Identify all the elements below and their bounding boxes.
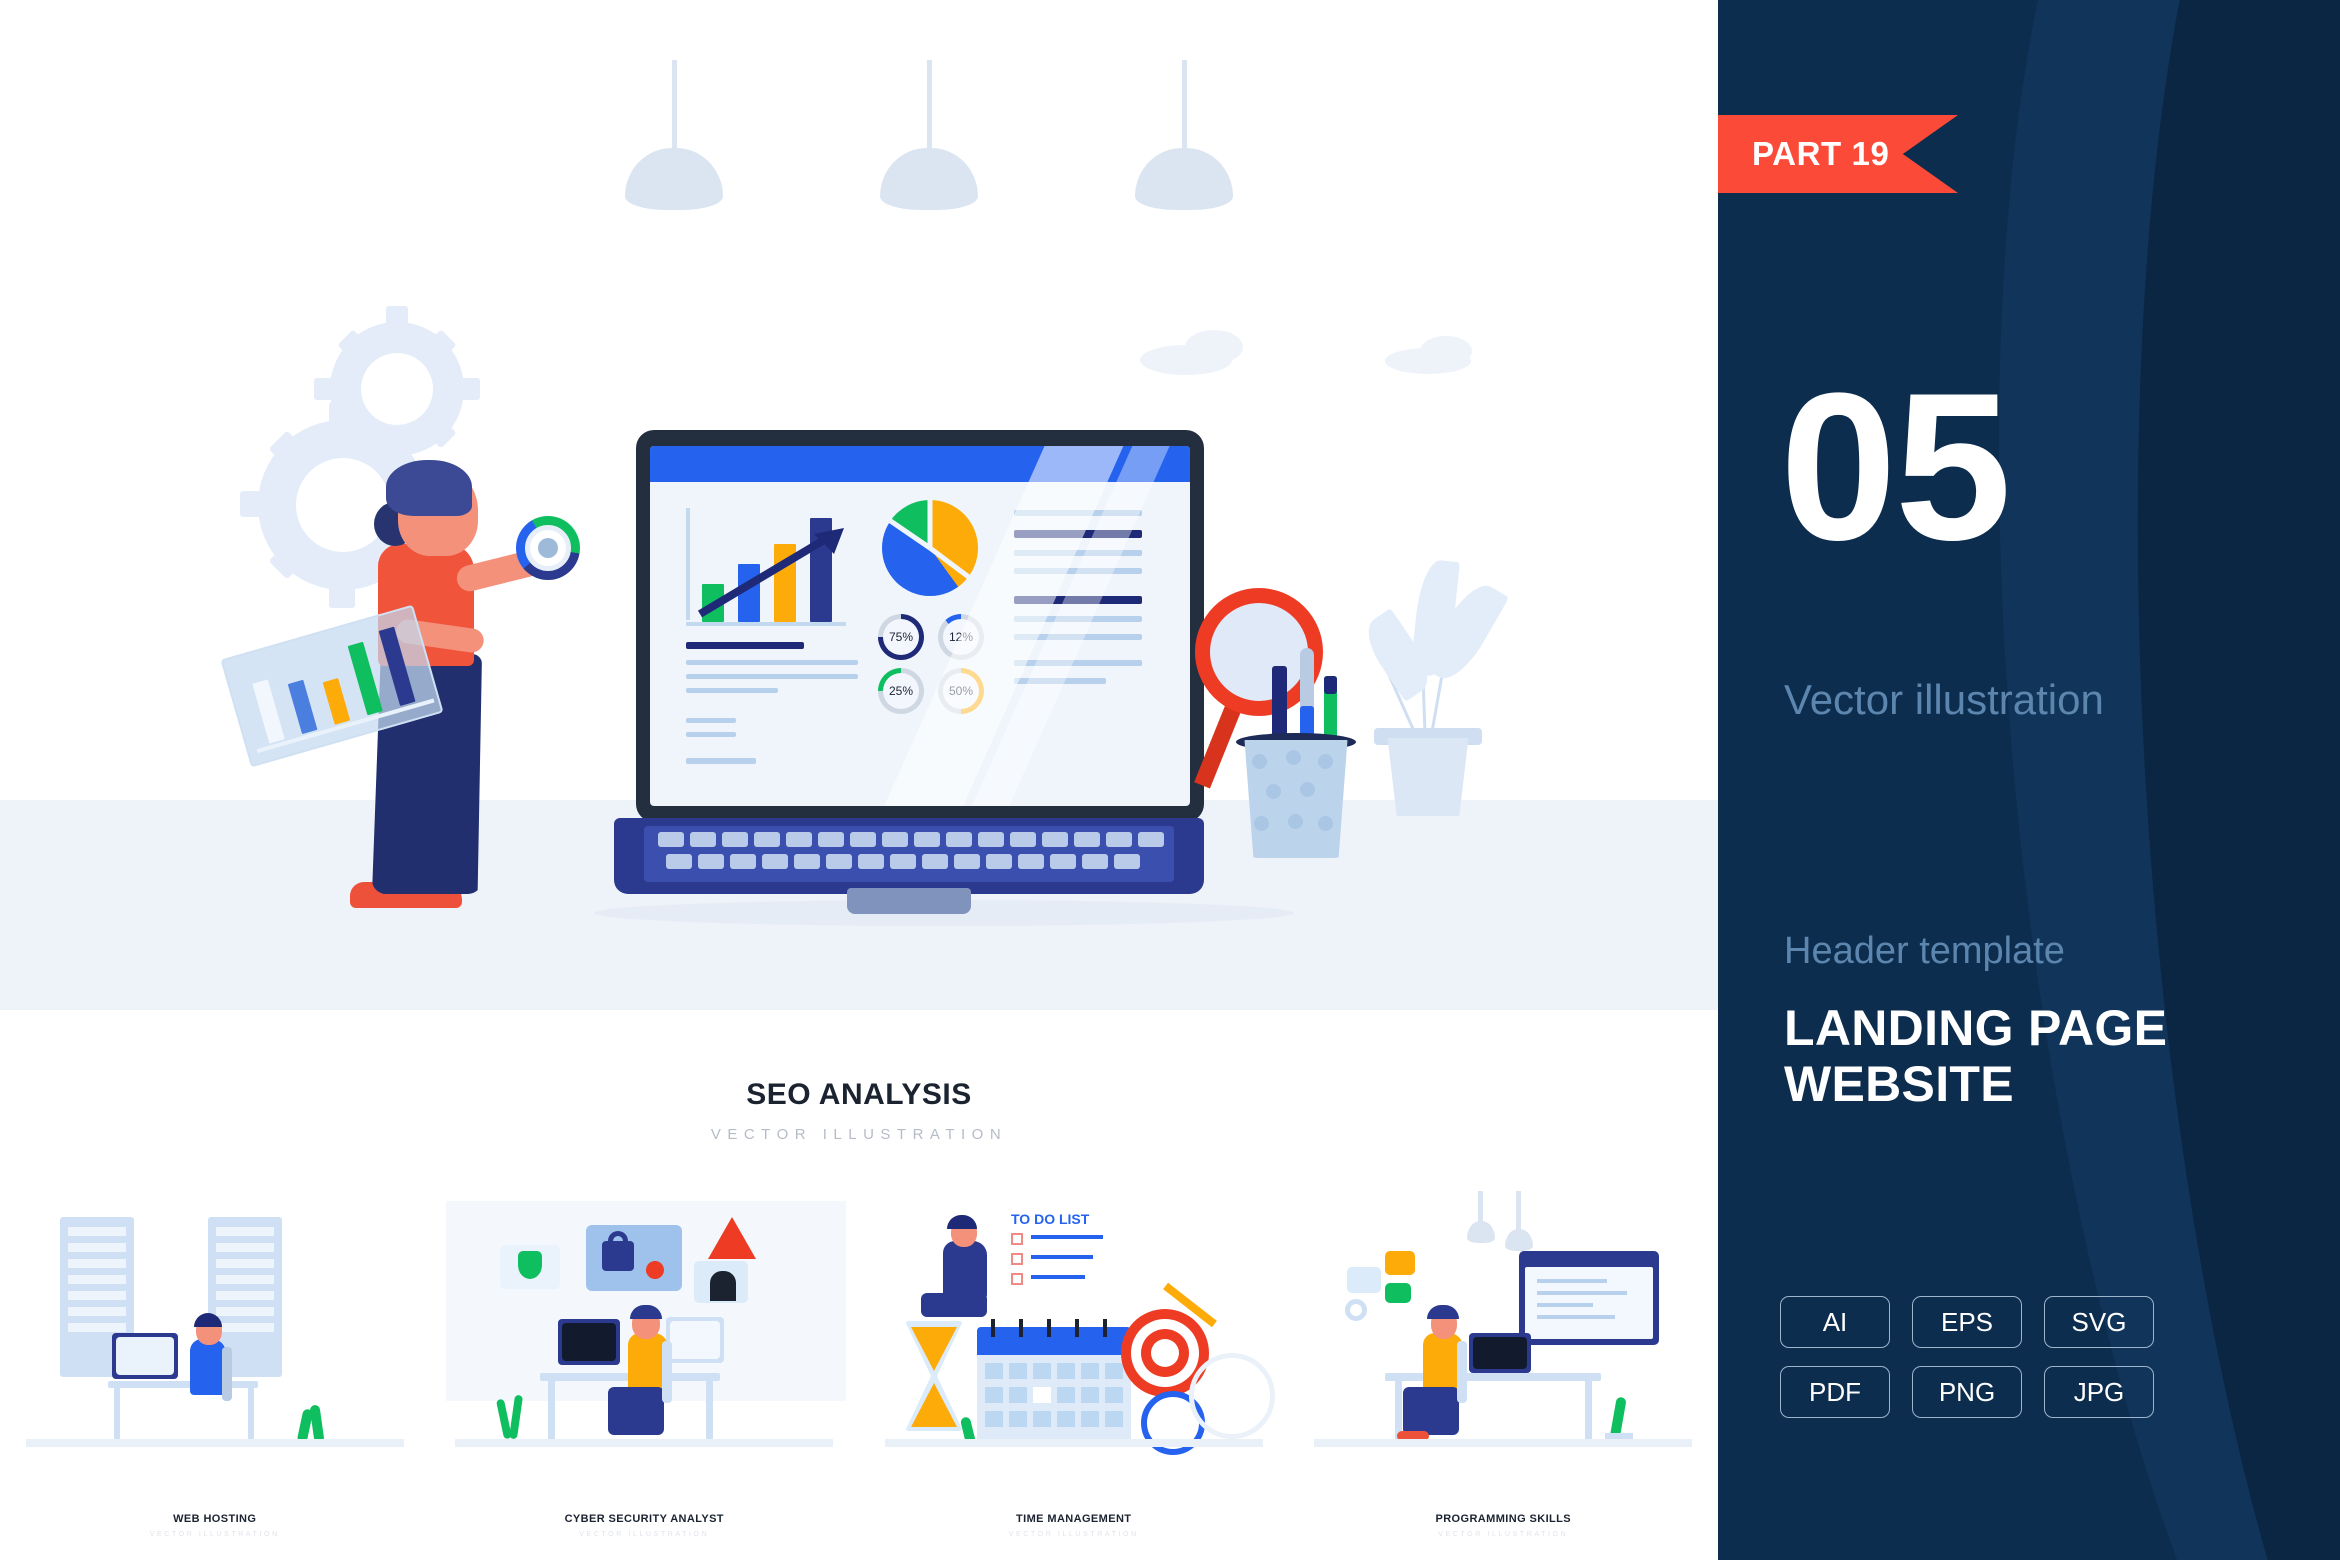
server-slot (68, 1323, 126, 1332)
server-slot (68, 1243, 126, 1252)
thumb-caption: TIME MANAGEMENT VECTOR ILLUSTRATION (859, 1513, 1289, 1538)
woman-illustration (280, 440, 600, 980)
laptop-lid: 75% 12% 25% 50% (636, 430, 1204, 822)
screen-text-line (686, 718, 736, 723)
todo-check-icon (1011, 1253, 1023, 1265)
person-cap (1427, 1305, 1459, 1319)
person-legs (921, 1293, 987, 1317)
thumbnail-time-management[interactable]: TO DO LIST (859, 1175, 1289, 1560)
calendar-cell (1105, 1363, 1123, 1379)
format-badge-pdf[interactable]: PDF (1780, 1366, 1890, 1418)
thumb-floor (885, 1439, 1263, 1447)
calendar-ring (1075, 1319, 1079, 1337)
calendar-cell (1009, 1411, 1027, 1427)
laptop-trackpad (847, 888, 971, 914)
person-hair (947, 1215, 977, 1229)
server-slot (68, 1227, 126, 1236)
screen-text-line (1014, 530, 1142, 538)
cloud-shape (1185, 330, 1243, 364)
calendar-ring (1103, 1319, 1107, 1337)
hourglass-sand (911, 1327, 957, 1371)
chat-bubble-icon (1385, 1283, 1411, 1303)
screen-text-line (1014, 678, 1106, 684)
screen-text-line (1014, 596, 1142, 604)
donut-value: 25% (883, 673, 919, 709)
person-legs (608, 1387, 664, 1435)
todo-line (1031, 1275, 1085, 1279)
person-body (943, 1241, 987, 1299)
panel-bar-5 (379, 627, 416, 706)
calendar-cell (1105, 1387, 1123, 1403)
thumb-title: CYBER SECURITY ANALYST (430, 1513, 860, 1525)
donut-value: 75% (883, 619, 919, 655)
lock-shackle-icon (608, 1231, 628, 1247)
person-cap (630, 1305, 662, 1319)
thumb-art: TO DO LIST (859, 1181, 1289, 1481)
calendar-cell (1057, 1387, 1075, 1403)
hero-caption: SEO ANALYSIS VECTOR ILLUSTRATION (0, 1078, 1718, 1143)
desk-leg (548, 1379, 555, 1441)
desk-leg (114, 1387, 120, 1443)
thumbnail-cyber-security[interactable]: CYBER SECURITY ANALYST VECTOR ILLUSTRATI… (430, 1175, 860, 1560)
laptop-small-screen (1473, 1337, 1527, 1369)
calendar-cell (985, 1363, 1003, 1379)
desk-leg (248, 1387, 254, 1443)
todo-line (1031, 1235, 1103, 1239)
screen-text-line (1014, 616, 1142, 622)
desk (1385, 1373, 1601, 1381)
screen-topbar (650, 446, 1190, 482)
plant (508, 1395, 522, 1440)
thumb-subtitle: VECTOR ILLUSTRATION (430, 1531, 860, 1538)
cloud-shape (1420, 336, 1472, 366)
pendant-lamp-icon (1135, 60, 1233, 212)
desk (108, 1381, 258, 1388)
server-slot (216, 1259, 274, 1268)
server-slot (68, 1291, 126, 1300)
format-badge-ai[interactable]: AI (1780, 1296, 1890, 1348)
format-badge-svg[interactable]: SVG (2044, 1296, 2154, 1348)
issue-number-subtitle: Vector illustration (1784, 676, 2104, 724)
side-title: LANDING PAGE WEBSITE (1784, 1000, 2304, 1112)
thumb-title: PROGRAMMING SKILLS (1289, 1513, 1719, 1525)
plant (309, 1404, 324, 1443)
calendar-cell (1033, 1387, 1051, 1403)
chair (1457, 1341, 1467, 1403)
pendant-lamp-icon (1467, 1191, 1495, 1245)
format-badge-eps[interactable]: EPS (1912, 1296, 2022, 1348)
person-legs (1403, 1387, 1459, 1435)
target-ring (1151, 1339, 1179, 1367)
screen-text-line (686, 688, 778, 693)
server-slot (216, 1275, 274, 1284)
header-template-label: Header template (1784, 930, 2065, 973)
thumb-title: WEB HOSTING (0, 1513, 430, 1525)
gear-icon (1345, 1299, 1367, 1321)
calendar-cell (1057, 1411, 1075, 1427)
pendant-lamp-icon (880, 60, 978, 212)
code-line (1537, 1315, 1615, 1319)
donut-value: 50% (943, 673, 979, 709)
todo-check-icon (1011, 1273, 1023, 1285)
trend-arrow-icon (696, 524, 846, 620)
calendar-ring (1019, 1319, 1023, 1337)
panel-bar-3 (323, 678, 351, 725)
thumb-art (1289, 1181, 1719, 1481)
format-badge-list: AI EPS SVG PDF PNG JPG (1780, 1296, 2200, 1418)
monitor-screen (116, 1337, 174, 1375)
server-slot (216, 1227, 274, 1236)
donut-value: 12% (943, 619, 979, 655)
part-ribbon-badge: PART 19 (1718, 115, 1958, 193)
lock-card (586, 1225, 682, 1291)
clock-bg-icon (1189, 1353, 1275, 1439)
code-line (1537, 1291, 1627, 1295)
donut-gauge: 25% (878, 668, 924, 714)
screen-text-line (1014, 634, 1142, 640)
thumb-floor (26, 1439, 404, 1447)
server-slot (68, 1307, 126, 1316)
panel-bar-2 (288, 680, 318, 734)
screen-text-line (1014, 550, 1142, 556)
thumbnail-programming-skills[interactable]: PROGRAMMING SKILLS VECTOR ILLUSTRATION (1289, 1175, 1719, 1560)
check-badge-icon (646, 1261, 664, 1279)
main-illustration-area: 75% 12% 25% 50% (0, 0, 1718, 1560)
calendar-ring (1047, 1319, 1051, 1337)
alert-triangle-icon (708, 1217, 756, 1259)
headscarf (386, 460, 472, 516)
panel-bar-1 (252, 679, 284, 743)
server-slot (68, 1259, 126, 1268)
pie-separators (882, 500, 978, 596)
page-title: SEO ANALYSIS (0, 1078, 1718, 1112)
person-body (190, 1339, 226, 1395)
thumb-title: TIME MANAGEMENT (859, 1513, 1289, 1525)
screen-text-line (1014, 568, 1142, 574)
screen-text-line (686, 674, 858, 679)
calendar-cell (1081, 1411, 1099, 1427)
server-slot (68, 1275, 126, 1284)
laptop-illustration: 75% 12% 25% 50% (614, 430, 1204, 990)
chair (662, 1341, 672, 1403)
donut-gauge: 50% (938, 668, 984, 714)
server-slot (216, 1243, 274, 1252)
thumb-caption: PROGRAMMING SKILLS VECTOR ILLUSTRATION (1289, 1513, 1719, 1538)
todo-line (1031, 1255, 1093, 1259)
poster-root: 75% 12% 25% 50% (0, 0, 2340, 1560)
server-slot (216, 1307, 274, 1316)
thumb-subtitle: VECTOR ILLUSTRATION (859, 1531, 1289, 1538)
thumbnail-row: WEB HOSTING VECTOR ILLUSTRATION (0, 1175, 1718, 1560)
calendar-cell (1081, 1387, 1099, 1403)
thumb-subtitle: VECTOR ILLUSTRATION (1289, 1531, 1719, 1538)
screen-bar-chart (686, 508, 846, 626)
thumbnail-web-hosting[interactable]: WEB HOSTING VECTOR ILLUSTRATION (0, 1175, 430, 1560)
calendar-cell (1081, 1363, 1099, 1379)
donut-gauge: 75% (878, 614, 924, 660)
pen-cap-navy (1324, 676, 1337, 694)
todo-list-label: TO DO LIST (1011, 1211, 1089, 1227)
thumb-art (0, 1181, 430, 1481)
todo-list-header: TO DO LIST (1011, 1211, 1089, 1227)
hero-scene: 75% 12% 25% 50% (0, 0, 1718, 1175)
screen-text-line (1014, 510, 1142, 516)
calendar-cell (985, 1387, 1003, 1403)
chair (222, 1347, 232, 1401)
calendar-cell (1105, 1411, 1123, 1427)
calendar-cell (1009, 1387, 1027, 1403)
code-line (1537, 1279, 1607, 1283)
progress-ring-icon (516, 516, 580, 580)
thumb-subtitle: VECTOR ILLUSTRATION (0, 1531, 430, 1538)
thumb-floor (1314, 1439, 1692, 1447)
screen-text-line (686, 660, 858, 665)
server-slot (216, 1323, 274, 1332)
monitor-code-screen (562, 1323, 616, 1361)
donut-gauge: 12% (938, 614, 984, 660)
todo-check-icon (1011, 1233, 1023, 1245)
pendant-lamp-icon (1505, 1191, 1533, 1245)
screen-text-line (686, 732, 736, 737)
page-subtitle: VECTOR ILLUSTRATION (0, 1126, 1718, 1143)
calendar-cell (1057, 1363, 1075, 1379)
calendar-ring (991, 1319, 995, 1337)
side-panel: PART 19 05 Vector illustration Header te… (1718, 0, 2340, 1560)
chat-bubble-icon (1347, 1267, 1381, 1293)
calendar-header (977, 1327, 1131, 1355)
pendant-lamp-icon (625, 60, 723, 212)
panel-bar-4 (348, 642, 383, 716)
shield-icon (518, 1251, 542, 1279)
server-slot (216, 1291, 274, 1300)
calendar-cell (1033, 1363, 1051, 1379)
thumb-art (430, 1181, 860, 1481)
part-ribbon-label: PART 19 (1718, 135, 1889, 173)
screen-text-line (1014, 660, 1142, 666)
screen-text-line (686, 758, 756, 764)
thumb-caption: CYBER SECURITY ANALYST VECTOR ILLUSTRATI… (430, 1513, 860, 1538)
format-badge-jpg[interactable]: JPG (2044, 1366, 2154, 1418)
thumb-caption: WEB HOSTING VECTOR ILLUSTRATION (0, 1513, 430, 1538)
code-line (1537, 1303, 1593, 1307)
calendar-cell (1009, 1363, 1027, 1379)
hacker-figure (710, 1271, 736, 1301)
calendar-cell (1033, 1411, 1051, 1427)
desk-leg (1585, 1379, 1592, 1443)
format-badge-png[interactable]: PNG (1912, 1366, 2022, 1418)
desk-leg (706, 1379, 713, 1441)
screen-text-line (686, 642, 804, 649)
laptop-screen: 75% 12% 25% 50% (650, 446, 1190, 806)
issue-number: 05 (1780, 370, 2300, 563)
calendar-cell (985, 1411, 1003, 1427)
chat-bubble-icon (1385, 1251, 1415, 1275)
monitor-dashboard-screen (670, 1321, 720, 1359)
thumb-floor (455, 1439, 833, 1447)
